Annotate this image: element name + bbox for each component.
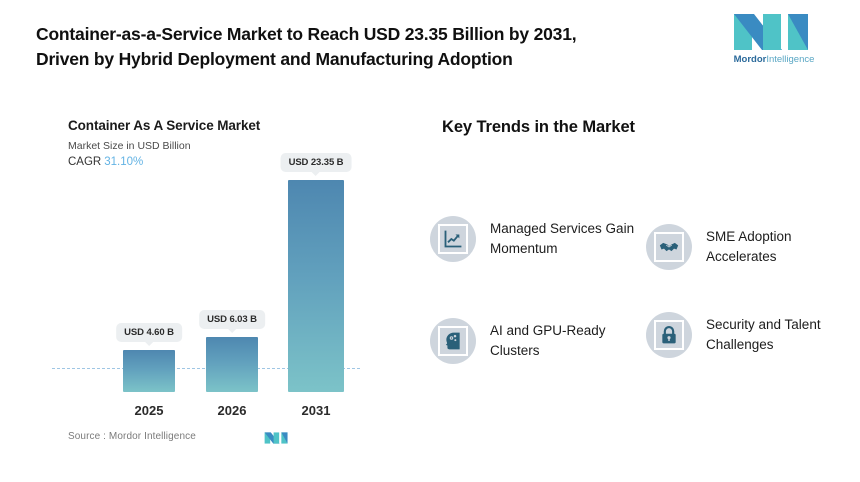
padlock-icon [646,312,692,358]
trend-item-security-talent: Security and Talent Challenges [646,312,856,358]
icon-frame [438,224,468,254]
icon-frame [438,326,468,356]
bar-2025 [123,350,175,392]
ai-head-gears-icon [430,318,476,364]
trend-item-managed-services: Managed Services Gain Momentum [430,216,640,262]
header: Container-as-a-Service Market to Reach U… [0,0,860,92]
icon-frame [654,320,684,350]
bar-2031 [288,180,344,392]
trend-item-ai-gpu-clusters: AI and GPU-Ready Clusters [430,318,640,364]
logo-word-intelligence: Intelligence [766,54,814,65]
padlock-glyph [659,325,679,345]
bar-chart-plot: USD 4.60 B2025USD 6.03 B2026USD 23.35 B2… [44,104,374,456]
handshake-glyph [659,237,679,257]
logo-word-mordor: Mordor [734,54,767,65]
brand-logo: MordorIntelligence [722,12,826,74]
bar-2026 [206,337,258,392]
page-title: Container-as-a-Service Market to Reach U… [36,22,686,73]
handshake-icon [646,224,692,270]
page-title-line-2: Driven by Hybrid Deployment and Manufact… [36,47,686,72]
key-trends-heading: Key Trends in the Market [442,118,635,137]
mordor-mark-icon [264,430,290,446]
bar-value-label-2031: USD 23.35 B [281,153,352,172]
trend-label: AI and GPU-Ready Clusters [490,321,638,362]
x-axis-tick-2026: 2026 [218,403,247,418]
x-axis-tick-2025: 2025 [135,403,164,418]
key-trends-panel: Key Trends in the Market Managed Service… [420,104,840,456]
mordor-intelligence-logo-icon [732,12,816,52]
trend-label: Managed Services Gain Momentum [490,219,638,260]
bar-value-label-2025: USD 4.60 B [116,323,182,342]
trend-label: SME Adoption Accelerates [706,227,854,268]
page-title-line-1: Container-as-a-Service Market to Reach U… [36,22,686,47]
chart-panel: Container As A Service Market Market Siz… [44,104,374,456]
logo-wordmark: MordorIntelligence [722,55,826,65]
ai-head-gears-glyph [443,331,463,351]
trend-label: Security and Talent Challenges [706,315,854,356]
line-chart-growth-glyph [443,229,463,249]
chart-source: Source : Mordor Intelligence [68,431,196,442]
trend-item-sme-adoption: SME Adoption Accelerates [646,224,856,270]
x-axis-tick-2031: 2031 [302,403,331,418]
icon-frame [654,232,684,262]
line-chart-growth-icon [430,216,476,262]
bar-value-label-2026: USD 6.03 B [199,310,265,329]
